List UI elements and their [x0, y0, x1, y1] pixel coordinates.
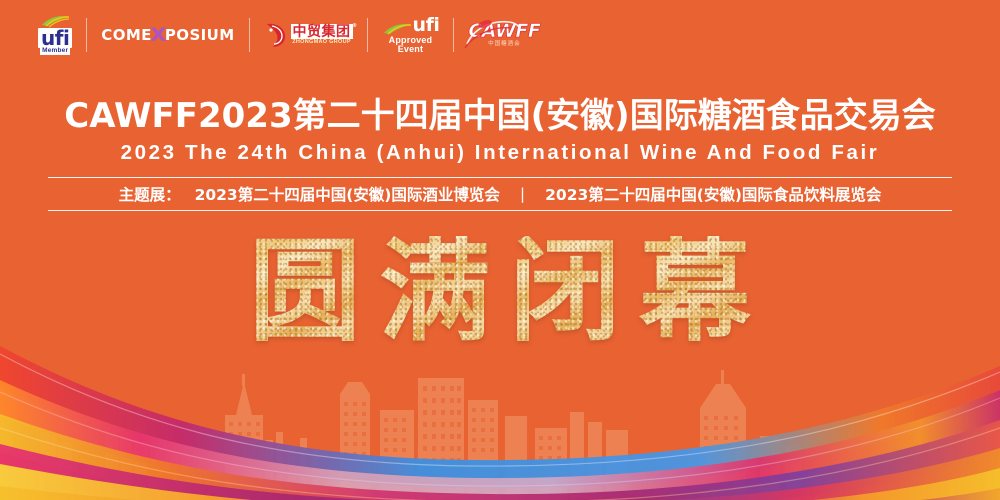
slogan-text: 圆满闭幕	[0, 236, 1000, 348]
cawff-sub-label: 中国糖酒会	[488, 42, 521, 48]
comexposium-logo[interactable]: COMEXPOSIUM	[87, 12, 248, 58]
ufi-approved-event-logo[interactable]: ufi Approved Event	[368, 12, 454, 58]
cawff-wordmark: CAWFF	[468, 22, 540, 41]
theme-exhibition-row: 主题展： 2023第二十四届中国(安徽)国际酒业博览会 | 2023第二十四届中…	[48, 177, 952, 211]
slogan-char-2: 满	[379, 236, 491, 348]
ufi-wordmark: ufi	[38, 28, 72, 48]
ufi-member-label: Member	[40, 48, 70, 55]
ufi-approved-line3: Event	[398, 45, 424, 54]
partner-logo-bar: ufi Member COMEXPOSIUM 中贸集团® ZHONGMAO GR…	[24, 12, 554, 58]
city-skyline-silhouette	[0, 370, 1000, 500]
slogan-char-1: 圆	[249, 236, 361, 348]
zhongmao-emblem-icon	[264, 22, 288, 48]
zhongmao-english-name: ZHONGMAO GROUP	[291, 40, 353, 46]
zhongmao-group-logo[interactable]: 中贸集团® ZHONGMAO GROUP	[250, 12, 367, 58]
page-subtitle-english: 2023 The 24th China (Anhui) Internationa…	[0, 141, 1000, 165]
ufi-member-logo[interactable]: ufi Member	[24, 12, 86, 58]
registered-mark-icon: ®	[352, 24, 358, 29]
comexposium-part2: POSIUM	[165, 26, 235, 44]
ufi-approved-wing-icon	[382, 23, 412, 36]
theme-separator: |	[514, 185, 531, 203]
theme-left: 2023第二十四届中国(安徽)国际酒业博览会	[195, 183, 500, 205]
comexposium-x-mark: X	[150, 24, 167, 46]
colorful-ribbon-waves	[0, 340, 1000, 500]
ufi-approved-wordmark: ufi	[413, 16, 440, 36]
slogan-char-3: 闭	[509, 236, 621, 348]
headline-block: CAWFF2023第二十四届中国(安徽)国际糖酒食品交易会 2023 The 2…	[0, 96, 1000, 211]
theme-label: 主题展：	[119, 183, 181, 205]
zhongmao-chinese-name: 中贸集团®	[291, 24, 353, 39]
theme-right: 2023第二十四届中国(安徽)国际食品饮料展览会	[545, 183, 881, 205]
page-title: CAWFF2023第二十四届中国(安徽)国际糖酒食品交易会	[0, 96, 1000, 136]
comexposium-part1: COME	[101, 26, 152, 44]
cawff-logo[interactable]: CAWFF 中国糖酒会	[454, 12, 554, 58]
event-banner: ufi Member COMEXPOSIUM 中贸集团® ZHONGMAO GR…	[0, 0, 1000, 500]
slogan-char-4: 幕	[639, 236, 751, 348]
